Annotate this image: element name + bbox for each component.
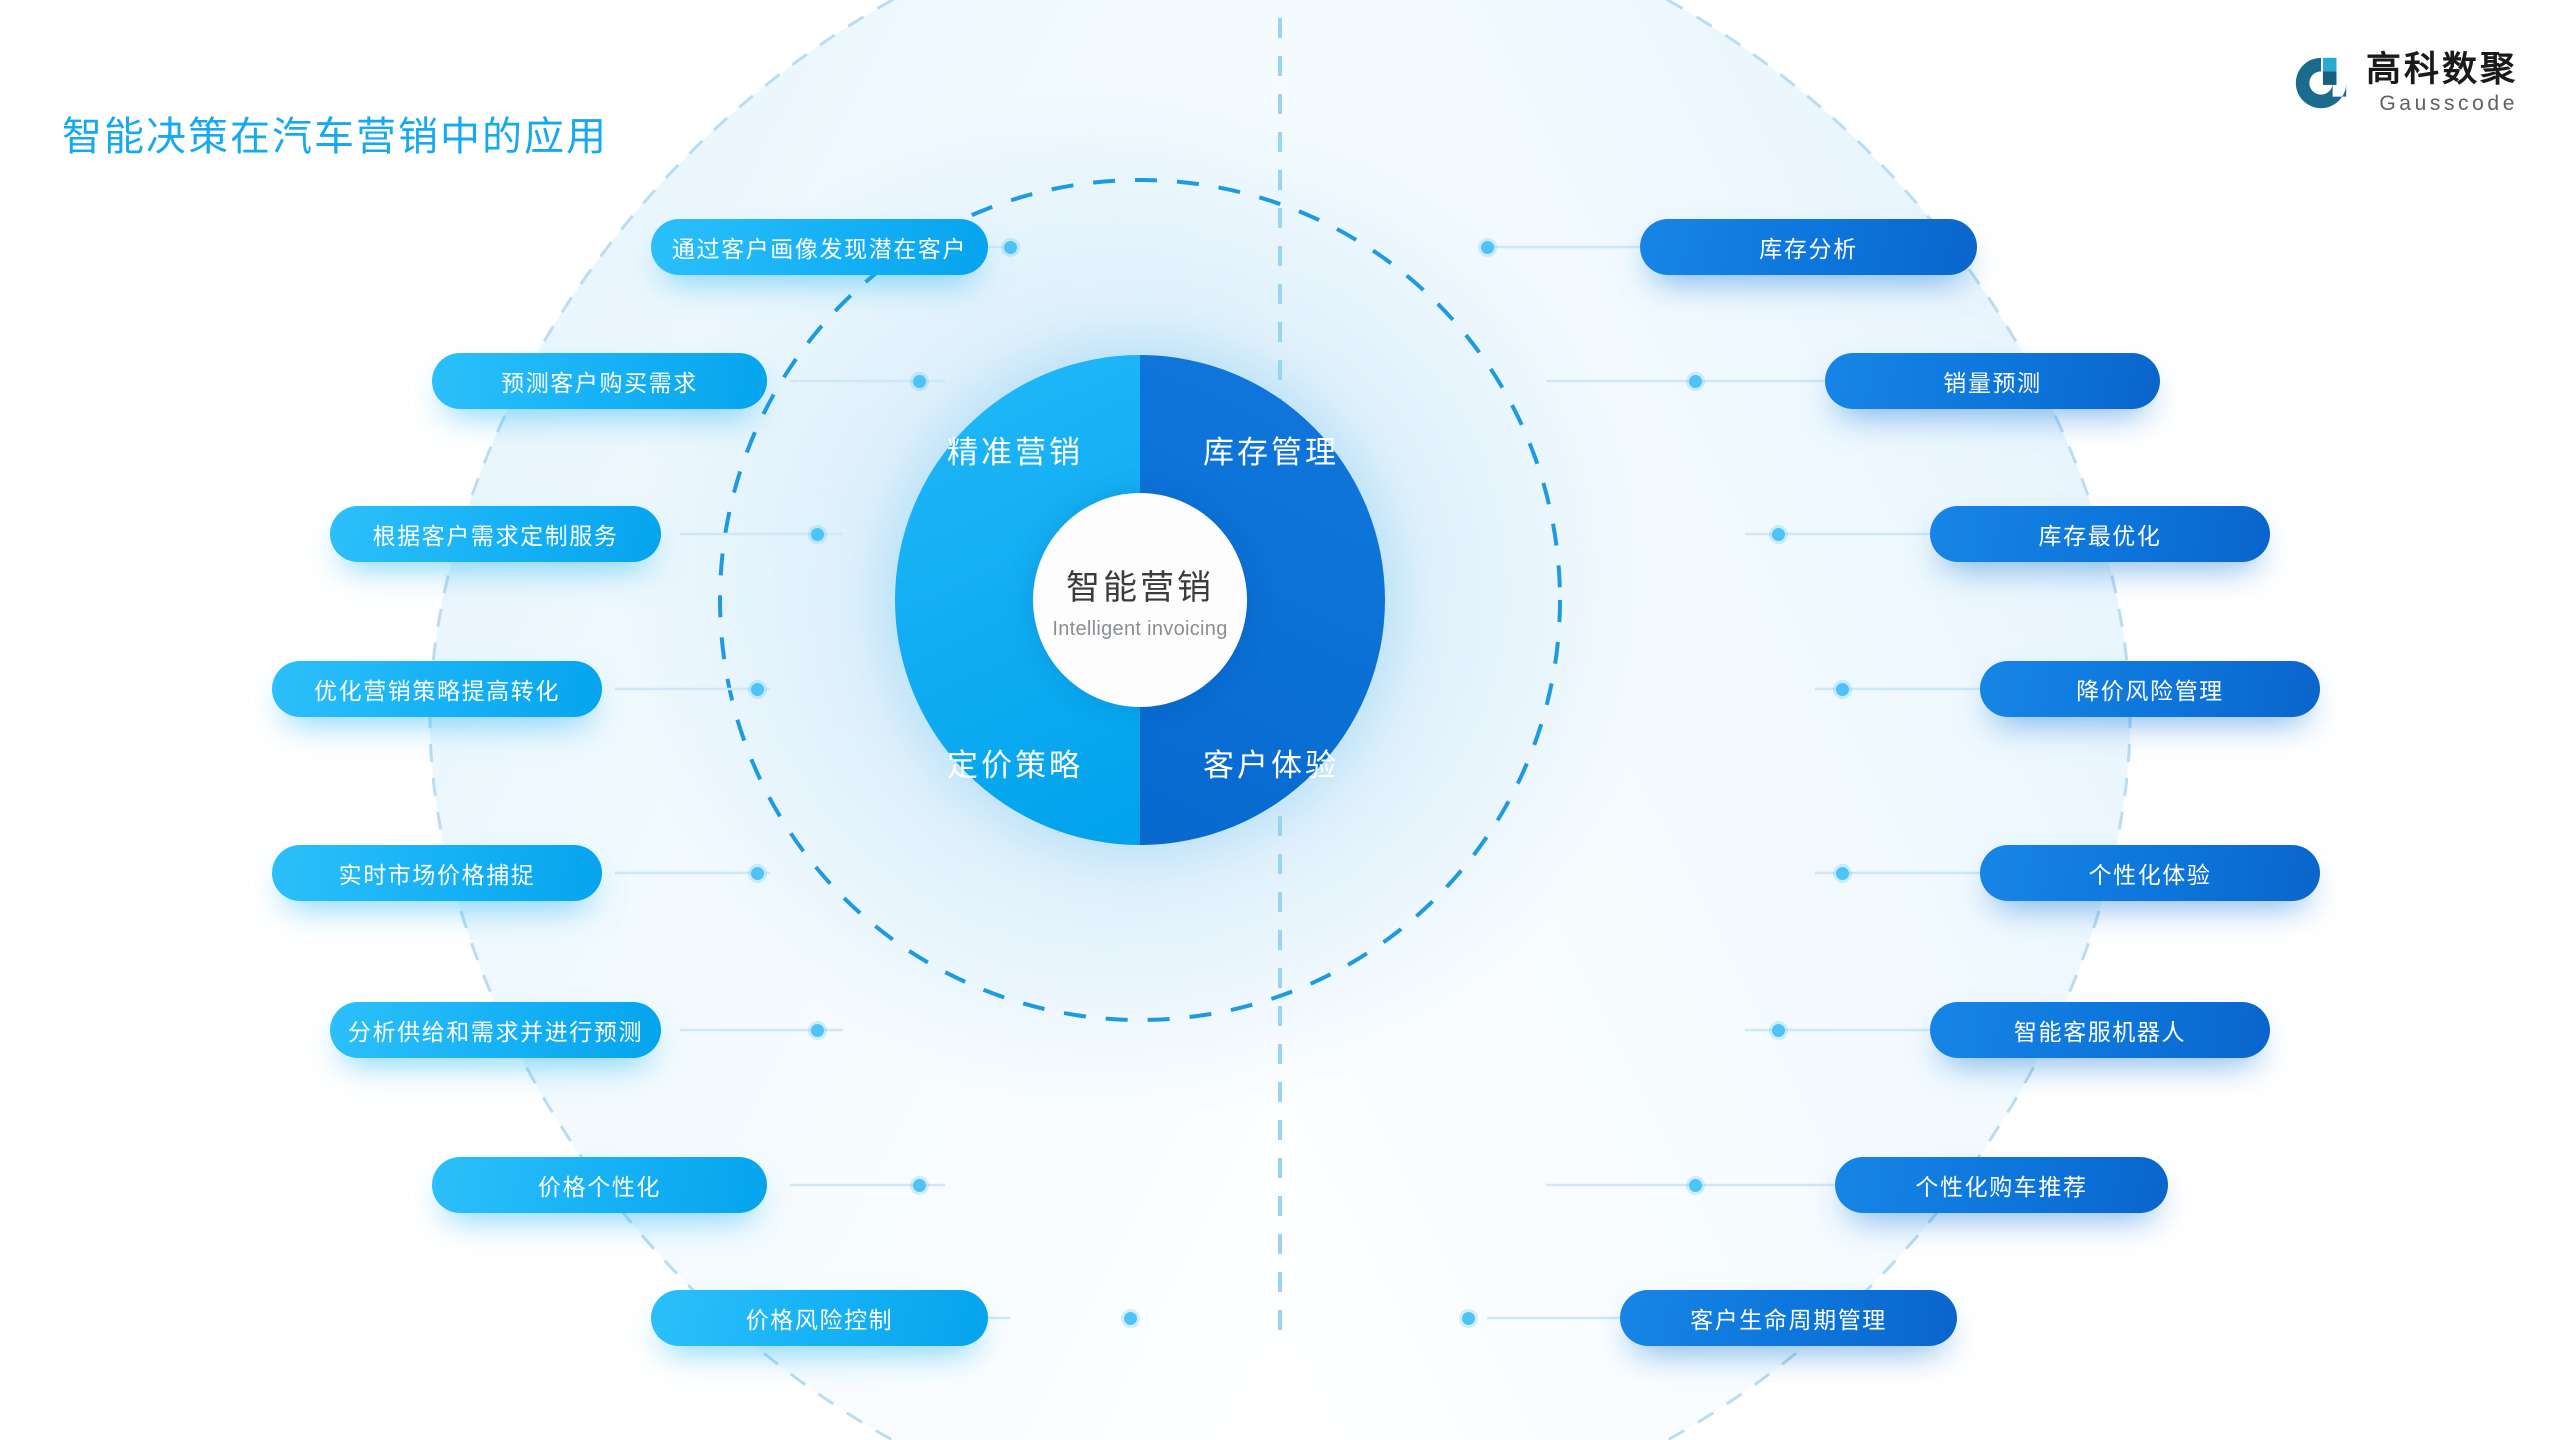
quadrant-label-precision-marketing[interactable]: 精准营销: [915, 427, 1115, 472]
logo-name-en: Gausscode: [2366, 93, 2518, 114]
connector-node-right-4: [1836, 683, 1849, 696]
connector-node-left-8: [1124, 1312, 1137, 1325]
connector-node-left-6: [811, 1024, 824, 1037]
quadrant-label-customer-experience[interactable]: 客户体验: [1171, 740, 1371, 785]
connector-node-right-6: [1772, 1024, 1785, 1037]
left-item-1[interactable]: 通过客户画像发现潜在客户: [651, 219, 988, 275]
gausscode-logo-icon: [2290, 52, 2352, 114]
right-item-1[interactable]: 库存分析: [1640, 219, 1977, 275]
connector-node-left-3: [811, 528, 824, 541]
connector-node-left-4: [751, 683, 764, 696]
center-title-en: Intelligent invoicing: [1052, 618, 1227, 641]
left-item-4[interactable]: 优化营销策略提高转化: [272, 661, 602, 717]
connector-node-right-1: [1481, 241, 1494, 254]
right-item-4[interactable]: 降价风险管理: [1980, 661, 2320, 717]
right-item-8[interactable]: 客户生命周期管理: [1620, 1290, 1957, 1346]
center-title-cn: 智能营销: [1066, 560, 1214, 609]
logo-name-cn: 高科数聚: [2366, 53, 2518, 88]
page-title: 智能决策在汽车营销中的应用: [62, 104, 608, 162]
connector-node-right-3: [1772, 528, 1785, 541]
right-item-7[interactable]: 个性化购车推荐: [1835, 1157, 2168, 1213]
quadrant-label-inventory-management[interactable]: 库存管理: [1171, 427, 1371, 472]
right-item-2[interactable]: 销量预测: [1825, 353, 2160, 409]
connector-node-right-2: [1689, 375, 1702, 388]
connector-node-left-7: [913, 1179, 926, 1192]
left-item-6[interactable]: 分析供给和需求并进行预测: [330, 1002, 661, 1058]
quadrant-label-pricing-strategy[interactable]: 定价策略: [915, 740, 1115, 785]
left-item-5[interactable]: 实时市场价格捕捉: [272, 845, 602, 901]
right-item-5[interactable]: 个性化体验: [1980, 845, 2320, 901]
right-item-6[interactable]: 智能客服机器人: [1930, 1002, 2270, 1058]
right-item-3[interactable]: 库存最优化: [1930, 506, 2270, 562]
connector-node-right-7: [1689, 1179, 1702, 1192]
brand-logo: 高科数聚 Gausscode: [2290, 52, 2518, 114]
left-item-2[interactable]: 预测客户购买需求: [432, 353, 767, 409]
left-item-7[interactable]: 价格个性化: [432, 1157, 767, 1213]
wheel-hub: 智能营销 Intelligent invoicing: [1033, 493, 1247, 707]
left-item-3[interactable]: 根据客户需求定制服务: [330, 506, 661, 562]
central-wheel: 精准营销 库存管理 定价策略 客户体验 智能营销 Intelligent inv…: [895, 355, 1385, 845]
connector-node-right-5: [1836, 867, 1849, 880]
connector-node-left-5: [751, 867, 764, 880]
left-item-8[interactable]: 价格风险控制: [651, 1290, 988, 1346]
connector-node-right-8: [1462, 1312, 1475, 1325]
connector-node-left-1: [1004, 241, 1017, 254]
